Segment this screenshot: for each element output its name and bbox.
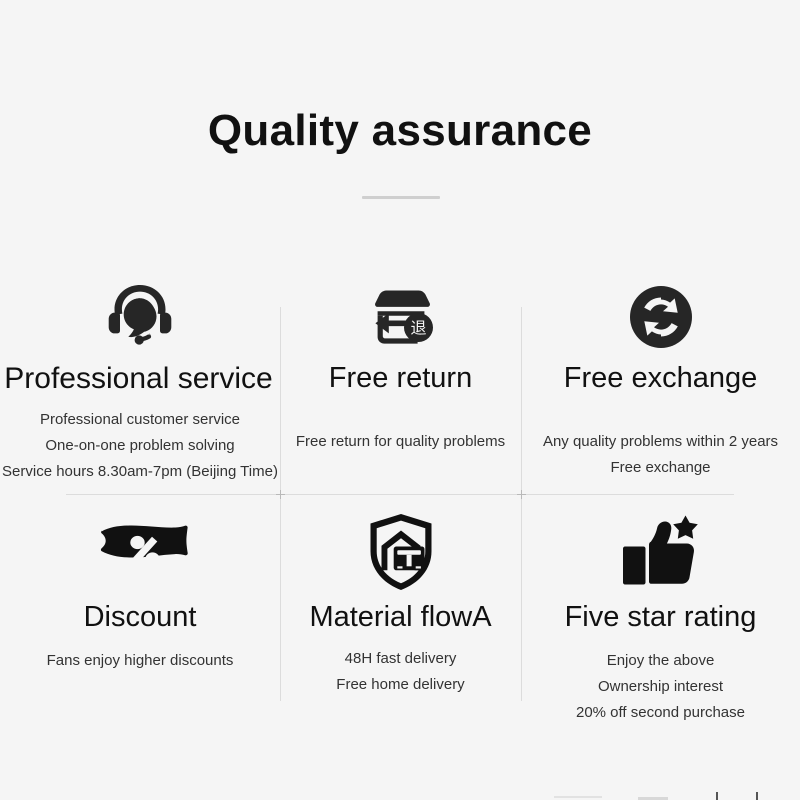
feature-cell-professional-service: Professional service Professional custom… xyxy=(0,272,280,495)
feature-title: Professional service xyxy=(0,362,280,397)
return-badge-glyph: 退 xyxy=(410,319,426,338)
feature-line: Fans enjoy higher discounts xyxy=(0,648,280,674)
feature-line: Enjoy the above xyxy=(521,648,800,674)
feature-line: Ownership interest xyxy=(521,674,800,700)
return-box-icon: 退 xyxy=(280,272,521,354)
grid-cross-right xyxy=(517,490,526,499)
feature-title: Free exchange xyxy=(521,362,800,395)
grid-cross-left xyxy=(276,490,285,499)
feature-title: Discount xyxy=(0,601,280,634)
exchange-refresh-icon xyxy=(521,272,800,354)
feature-line: 20% off second purchase xyxy=(521,700,800,726)
page-title: Quality assurance xyxy=(0,108,800,154)
shield-house-truck-icon xyxy=(280,495,521,589)
feature-cell-material-flow: Material flowA 48H fast delivery Free ho… xyxy=(280,495,521,742)
feature-line: One-on-one problem solving xyxy=(0,433,280,459)
grid-divider-vertical-right xyxy=(521,307,522,701)
grid-divider-vertical-left xyxy=(280,307,281,701)
discount-ticket-percent-icon xyxy=(0,495,280,589)
feature-description: Enjoy the above Ownership interest 20% o… xyxy=(521,648,800,726)
quality-assurance-section: Quality assurance Professional service xyxy=(0,0,800,800)
feature-description: 48H fast delivery Free home delivery xyxy=(280,646,521,698)
headset-customer-service-icon xyxy=(0,272,280,354)
next-section-bleed xyxy=(548,790,800,800)
feature-cell-free-return: 退 Free return Free return for quality pr… xyxy=(280,272,521,495)
feature-title: Five star rating xyxy=(521,601,800,634)
feature-title: Material flowA xyxy=(280,601,521,634)
feature-line: 48H fast delivery xyxy=(280,646,521,672)
grid-divider-horizontal xyxy=(66,494,734,495)
feature-line: Service hours 8.30am-7pm (Beijing Time) xyxy=(0,459,280,485)
feature-description: Any quality problems within 2 years Free… xyxy=(521,429,800,481)
thumbs-up-star-icon xyxy=(521,495,800,589)
feature-cell-five-star-rating: Five star rating Enjoy the above Ownersh… xyxy=(521,495,800,742)
feature-description: Free return for quality problems xyxy=(280,429,521,455)
feature-line: Free home delivery xyxy=(280,672,521,698)
feature-grid: Professional service Professional custom… xyxy=(0,272,800,742)
feature-line: Free return for quality problems xyxy=(280,429,521,455)
feature-line: Professional customer service xyxy=(0,407,280,433)
feature-line: Free exchange xyxy=(521,455,800,481)
section-header: Quality assurance xyxy=(0,0,800,230)
feature-title: Free return xyxy=(280,362,521,395)
feature-cell-free-exchange: Free exchange Any quality problems withi… xyxy=(521,272,800,495)
feature-description: Professional customer service One-on-one… xyxy=(0,407,280,485)
feature-line: Any quality problems within 2 years xyxy=(521,429,800,455)
title-underline xyxy=(362,196,440,199)
feature-cell-discount: Discount Fans enjoy higher discounts xyxy=(0,495,280,742)
feature-description: Fans enjoy higher discounts xyxy=(0,648,280,674)
